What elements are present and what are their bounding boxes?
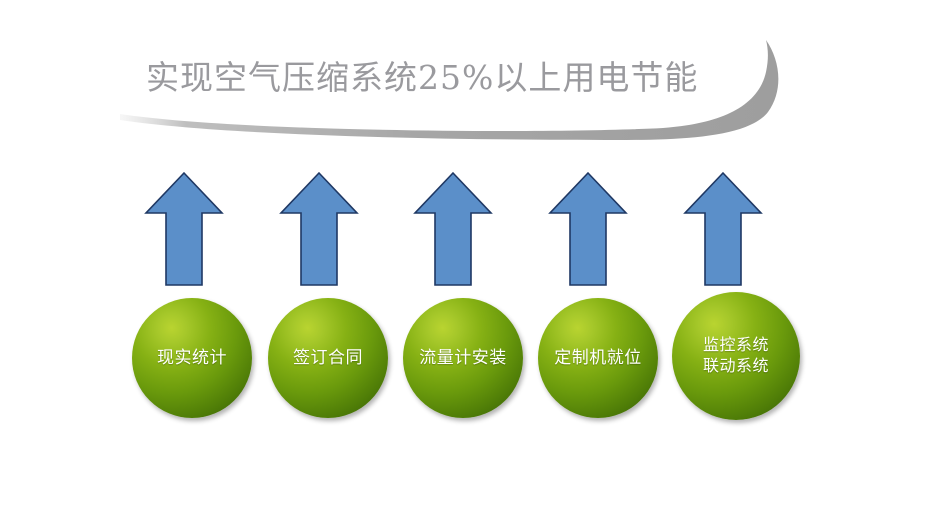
- process-node-5[interactable]: 监控系统 联动系统: [672, 292, 800, 420]
- process-node-2-label: 签订合同: [289, 347, 367, 369]
- up-arrow-5: [681, 170, 765, 288]
- process-node-2[interactable]: 签订合同: [268, 298, 388, 418]
- up-arrow-3: [411, 170, 495, 288]
- process-node-1[interactable]: 现实统计: [132, 298, 252, 418]
- process-node-4-label: 定制机就位: [550, 347, 646, 369]
- presentation-slide: 实现空气压缩系统25%以上用电节能 现实统计 签订合同 流量计安装: [0, 0, 945, 529]
- page-title: 实现空气压缩系统25%以上用电节能: [146, 50, 766, 106]
- up-arrow-2: [277, 170, 361, 288]
- process-node-3-label: 流量计安装: [415, 347, 511, 369]
- process-node-3[interactable]: 流量计安装: [403, 298, 523, 418]
- up-arrow-4: [546, 170, 630, 288]
- title-banner: 实现空气压缩系统25%以上用电节能: [118, 36, 788, 144]
- up-arrow-1: [142, 170, 226, 288]
- process-node-1-label: 现实统计: [153, 347, 231, 369]
- process-node-4[interactable]: 定制机就位: [538, 298, 658, 418]
- process-node-5-label: 监控系统 联动系统: [699, 335, 773, 377]
